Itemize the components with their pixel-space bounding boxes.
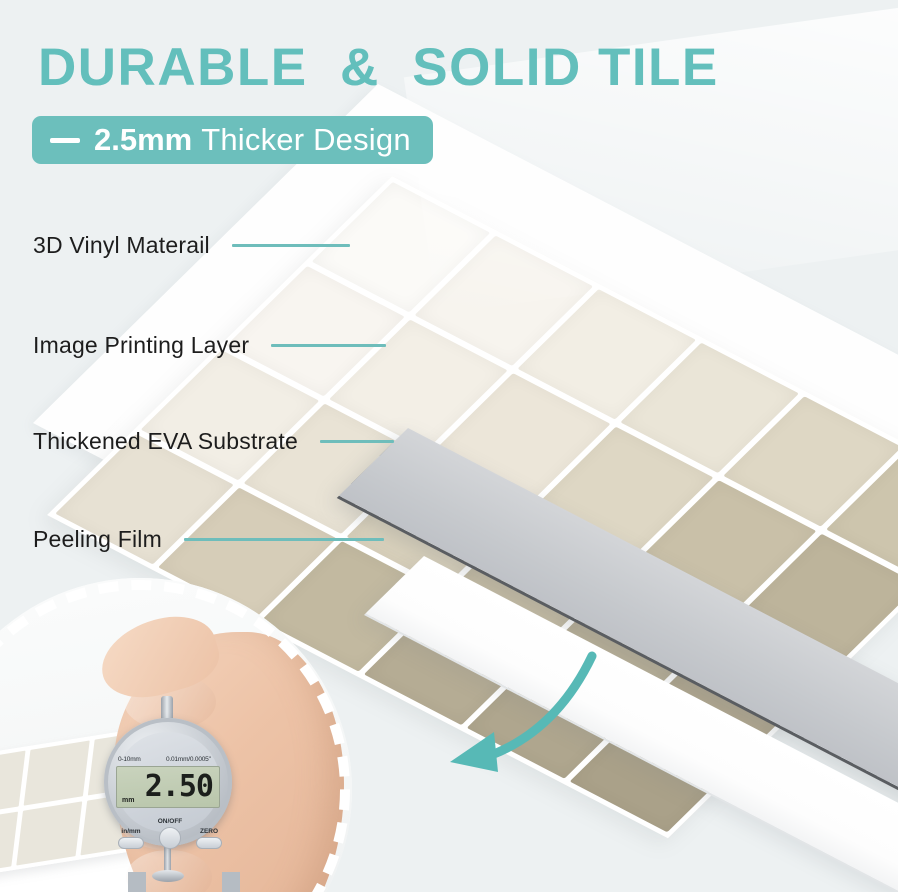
leader-line [232, 244, 350, 247]
sample-tile-swatch [16, 801, 82, 866]
callout-print: Image Printing Layer [33, 332, 386, 359]
gauge-range-label: 0-10mm [118, 756, 141, 763]
gauge-button-zero[interactable]: ZERO [196, 828, 222, 849]
gauge-button-zero-label: ZERO [196, 828, 222, 835]
badge-thickness-value: 2.5mm [94, 122, 192, 158]
infographic-canvas: DURABLE & SOLID TILE 2.5mm Thicker Desig… [0, 0, 898, 892]
tile-swatch [826, 450, 898, 580]
callout-film-label: Peeling Film [33, 526, 162, 553]
tile-swatch [535, 427, 714, 557]
gauge-unit-label: mm [122, 797, 134, 804]
thickness-badge: 2.5mm Thicker Design [32, 116, 433, 164]
callout-substrate-label: Thickened EVA Substrate [33, 428, 298, 455]
gauge-button-cap [196, 837, 222, 849]
sample-tile-swatch [23, 740, 89, 805]
dash-icon [50, 138, 80, 143]
gauge-lcd-display: mm 2.50 [116, 766, 220, 808]
gauge-button-inmm-label: in/mm [118, 828, 144, 835]
gauge-button-inmm[interactable]: in/mm [118, 828, 144, 849]
sample-tile-swatch [0, 811, 18, 876]
leader-line [320, 440, 394, 443]
gauge-head: 0-10mm 0.01mm/0.0005" mm 2.50 in/mm ON/O… [104, 718, 232, 846]
callout-substrate: Thickened EVA Substrate [33, 428, 394, 455]
tile-swatch [517, 289, 696, 419]
tile-swatch [141, 350, 320, 480]
gauge-resolution-label: 0.01mm/0.0005" [166, 756, 211, 763]
tile-swatch [655, 618, 834, 748]
sample-tile-swatch [0, 751, 25, 816]
callout-vinyl: 3D Vinyl Materail [33, 232, 350, 259]
tile-swatch [723, 396, 898, 526]
curved-arrow-icon [420, 650, 600, 800]
leader-line [184, 538, 384, 541]
leader-line [271, 344, 386, 347]
callout-print-label: Image Printing Layer [33, 332, 249, 359]
gauge-reading: 2.50 [145, 772, 213, 802]
tile-swatch [346, 457, 525, 587]
callout-vinyl-label: 3D Vinyl Materail [33, 232, 210, 259]
gauge-button-cap [118, 837, 144, 849]
thickness-gauge: 0-10mm 0.01mm/0.0005" mm 2.50 in/mm ON/O… [104, 696, 234, 886]
tile-swatch [620, 343, 799, 473]
gauge-anvil [152, 870, 184, 882]
tile-swatch [449, 511, 628, 641]
tile-swatch [432, 373, 611, 503]
measurement-photo: 0-10mm 0.01mm/0.0005" mm 2.50 in/mm ON/O… [0, 578, 352, 892]
gauge-button-onoff-label: ON/OFF [158, 818, 183, 825]
tile-swatch [741, 534, 898, 664]
caliper-arm [128, 872, 240, 892]
badge-thickness-caption: Thicker Design [201, 122, 411, 158]
tile-swatch [638, 480, 817, 610]
tile-swatch [244, 404, 423, 534]
page-title: DURABLE & SOLID TILE [38, 40, 719, 96]
gauge-button-row: in/mm ON/OFF ZERO [118, 818, 222, 849]
gauge-button-cap [159, 827, 181, 849]
gauge-button-onoff[interactable]: ON/OFF [158, 818, 183, 849]
callout-film: Peeling Film [33, 526, 384, 553]
tile-swatch [415, 236, 594, 366]
